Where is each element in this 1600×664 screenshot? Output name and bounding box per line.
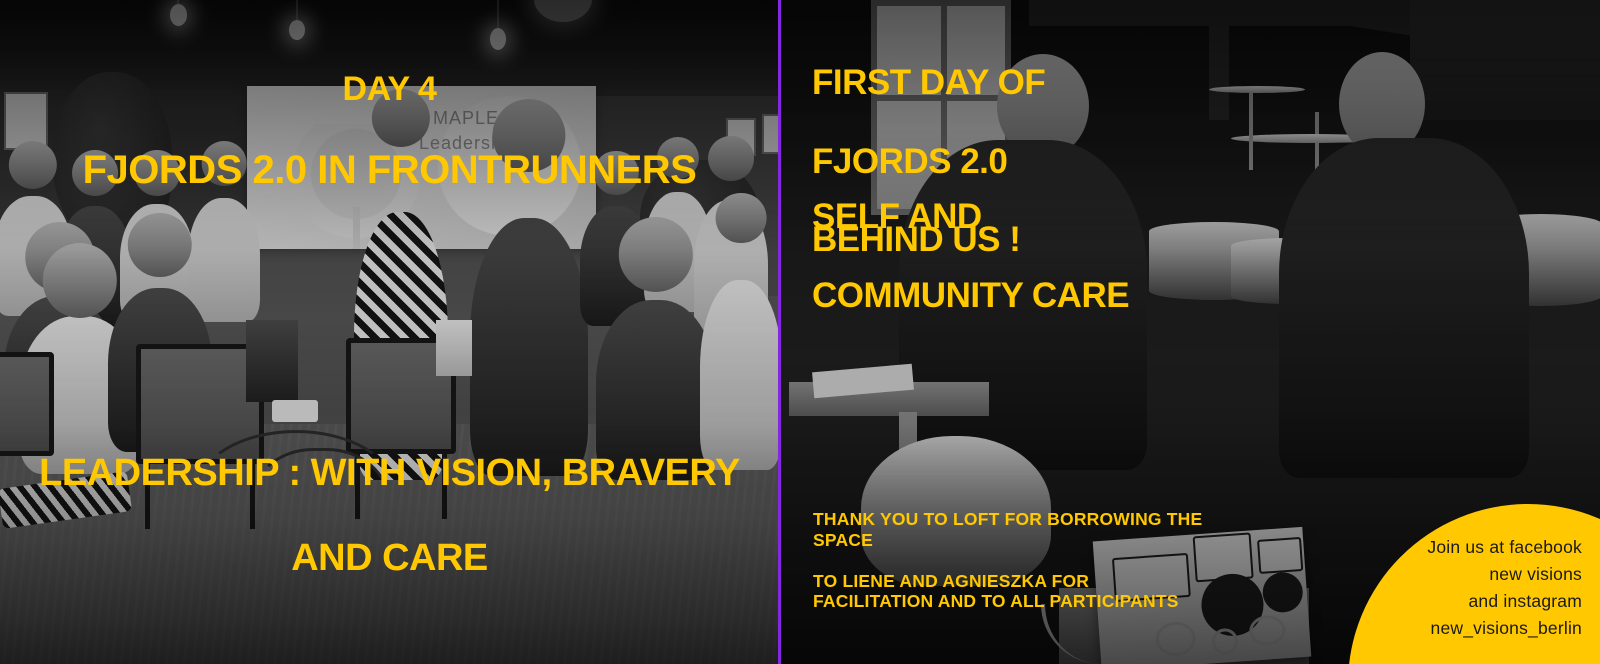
left-headline-line-2: FJORDS 2.0 IN FRONTRUNNERS [0,149,779,191]
lamp-cord [296,0,298,22]
ceiling-beam [1209,0,1229,120]
left-bottom-line-1: LEADERSHIP : WITH VISION, BRAVERY [0,452,779,495]
right-headline-2-line-2: COMMUNITY CARE [812,276,1129,315]
slide-canvas: MAPLE Leadership [0,0,1600,664]
background-shelf [1410,0,1600,120]
lamp-cord [497,0,499,30]
hanging-lamp-icon [170,4,187,26]
av-equipment [246,320,298,402]
right-headline-2-line-1: SELF AND [812,197,1129,236]
person-right [1279,138,1529,478]
laptop [436,320,472,376]
credits-block: THANK YOU TO LOFT FOR BORROWING THE SPAC… [813,509,1213,612]
social-line-2: new visions [1262,561,1582,588]
left-headline-line-1: DAY 4 [0,71,779,107]
sticker-outline [1211,628,1239,656]
right-headline-block-2: SELF AND COMMUNITY CARE [812,158,1129,354]
social-line-3: and instagram [1262,588,1582,615]
social-line-4: new_visions_berlin [1262,615,1582,642]
credit-line-1: THANK YOU TO LOFT FOR BORROWING THE SPAC… [813,509,1213,550]
social-badge-text: Join us at facebook new visions and inst… [1262,534,1582,643]
left-bottom-line-2: AND CARE [0,537,779,580]
left-photo-panel: MAPLE Leadership [0,0,779,664]
cymbal-stand [1249,90,1253,170]
right-photo-panel: FIRST DAY OF FJORDS 2.0 BEHIND US ! SELF… [779,0,1600,664]
cymbal [1209,86,1305,93]
panel-divider [778,0,781,664]
right-headline-1-line-1: FIRST DAY OF [812,63,1045,102]
social-line-1: Join us at facebook [1262,534,1582,561]
left-bottom-headline: LEADERSHIP : WITH VISION, BRAVERY AND CA… [0,409,779,622]
credit-line-2: TO LIENE AND AGNIESZKA FOR FACILITATION … [813,571,1213,612]
left-top-headline: DAY 4 FJORDS 2.0 IN FRONTRUNNERS [0,30,779,232]
